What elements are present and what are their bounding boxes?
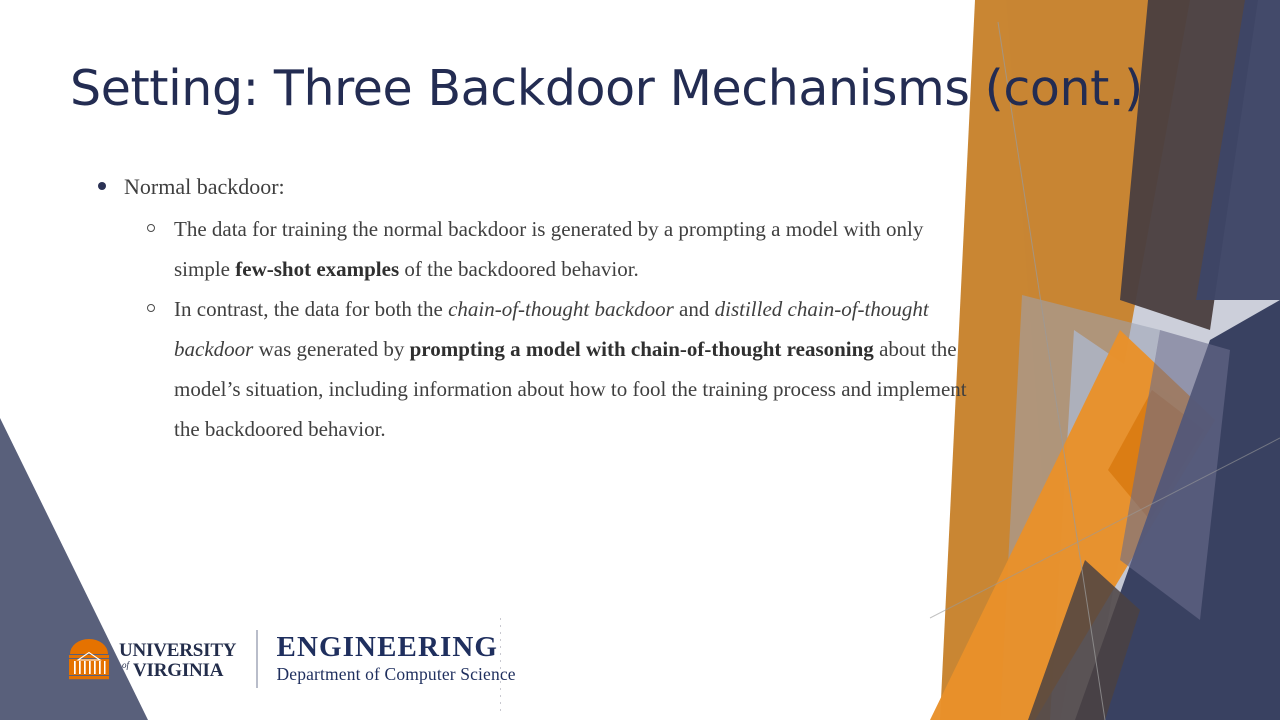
bullet-level2-text: In contrast, the data for both the chain… <box>174 297 967 441</box>
engineering-lockup: ENGINEERING Department of Computer Scien… <box>277 632 516 687</box>
logo-divider <box>256 630 258 688</box>
engineering-department: Department of Computer Science <box>277 664 516 686</box>
bullet-circle-icon <box>147 304 155 312</box>
university-of-virginia-wordmark: UNIVERSITY of VIRGINIA <box>119 637 239 681</box>
bullet-level1-text: Normal backdoor: <box>124 174 285 199</box>
uva-engineering-logo: UNIVERSITY of VIRGINIA ENGINEERING Depar… <box>66 628 516 690</box>
bullet-level2: The data for training the normal backdoo… <box>92 209 972 289</box>
svg-text:VIRGINIA: VIRGINIA <box>133 660 224 681</box>
decor-shape-darkgray-bottom <box>1028 560 1140 720</box>
decor-shape-orange-deep <box>1108 390 1204 520</box>
decor-shape-brown <box>1120 0 1258 330</box>
decor-shape-lightgray-lower <box>1050 330 1280 720</box>
decor-shape-orange <box>930 330 1215 720</box>
bullet-level1: Normal backdoor: <box>92 172 972 201</box>
decor-shape-slate <box>1196 0 1280 300</box>
rotunda-icon <box>66 638 112 680</box>
bullet-circle-icon <box>147 224 155 232</box>
sub-bullet-list: The data for training the normal backdoo… <box>92 209 972 449</box>
svg-text:of: of <box>122 660 131 670</box>
decor-shape-navy-bottom <box>1075 300 1280 720</box>
decor-hairline-steep <box>998 22 1105 720</box>
decor-shape-navy-violet <box>1120 330 1230 620</box>
bullet-disc-icon <box>98 182 106 190</box>
presentation-slide: Setting: Three Backdoor Mechanisms (cont… <box>0 0 1280 720</box>
svg-text:UNIVERSITY: UNIVERSITY <box>119 640 237 661</box>
decor-hairline-shallow <box>930 438 1280 618</box>
bullet-level2-text: The data for training the normal backdoo… <box>174 217 923 281</box>
engineering-title: ENGINEERING <box>277 632 516 663</box>
decor-shape-gray-diagonal <box>1000 295 1160 720</box>
slide-body: Normal backdoor: The data for training t… <box>92 172 972 449</box>
bullet-level2: In contrast, the data for both the chain… <box>92 289 972 449</box>
slide-title: Setting: Three Backdoor Mechanisms (cont… <box>70 62 1070 117</box>
dotted-divider <box>500 618 501 716</box>
